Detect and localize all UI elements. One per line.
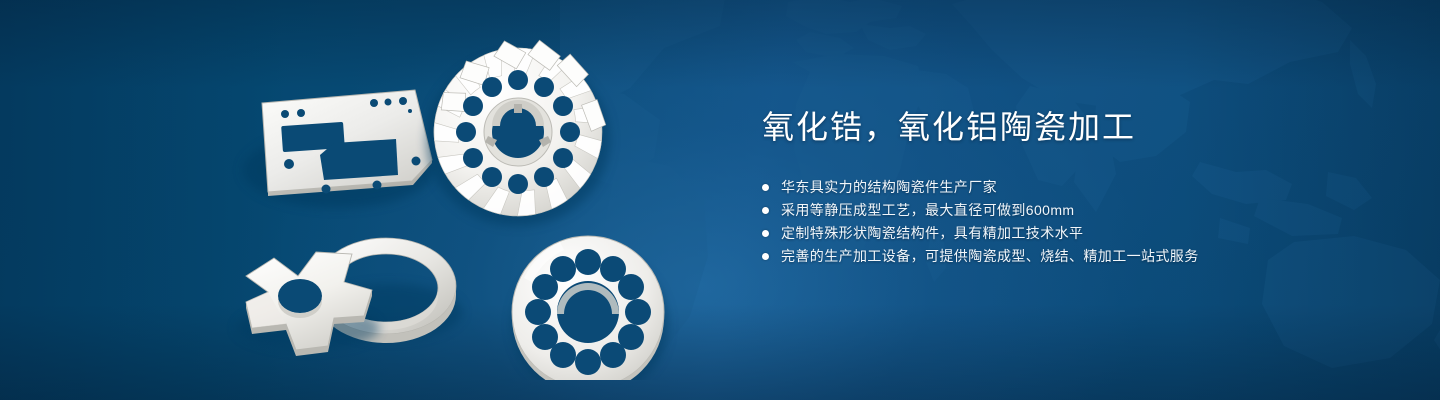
- bullet-dot-icon: [762, 207, 769, 214]
- ceramic-impeller: [426, 38, 610, 226]
- bullet-dot-icon: [762, 184, 769, 191]
- list-item: 定制特殊形状陶瓷结构件，具有精加工技术水平: [762, 222, 1382, 244]
- ceramic-perforated-disc: [512, 236, 668, 380]
- list-item: 完善的生产加工设备，可提供陶瓷成型、烧结、精加工一站式服务: [762, 245, 1382, 267]
- feature-list: 华东具实力的结构陶瓷件生产厂家 采用等静压成型工艺，最大直径可做到600mm 定…: [762, 176, 1382, 267]
- bullet-dot-icon: [762, 230, 769, 237]
- list-item: 采用等静压成型工艺，最大直径可做到600mm: [762, 199, 1382, 221]
- ceramic-plate: [243, 90, 433, 208]
- page-title: 氧化锆，氧化铝陶瓷加工: [762, 104, 1382, 150]
- feature-text: 采用等静压成型工艺，最大直径可做到600mm: [781, 199, 1074, 221]
- product-image-group: [200, 30, 730, 380]
- feature-text: 定制特殊形状陶瓷结构件，具有精加工技术水平: [781, 222, 1083, 244]
- bullet-dot-icon: [762, 253, 769, 260]
- list-item: 华东具实力的结构陶瓷件生产厂家: [762, 176, 1382, 198]
- feature-text: 华东具实力的结构陶瓷件生产厂家: [781, 176, 997, 198]
- banner-copy: 氧化锆，氧化铝陶瓷加工 华东具实力的结构陶瓷件生产厂家 采用等静压成型工艺，最大…: [762, 104, 1382, 268]
- feature-text: 完善的生产加工设备，可提供陶瓷成型、烧结、精加工一站式服务: [781, 245, 1199, 267]
- hero-banner: 氧化锆，氧化铝陶瓷加工 华东具实力的结构陶瓷件生产厂家 采用等静压成型工艺，最大…: [0, 0, 1440, 400]
- ceramic-cross-part: [236, 252, 380, 356]
- ceramic-products-illustration: [200, 30, 730, 380]
